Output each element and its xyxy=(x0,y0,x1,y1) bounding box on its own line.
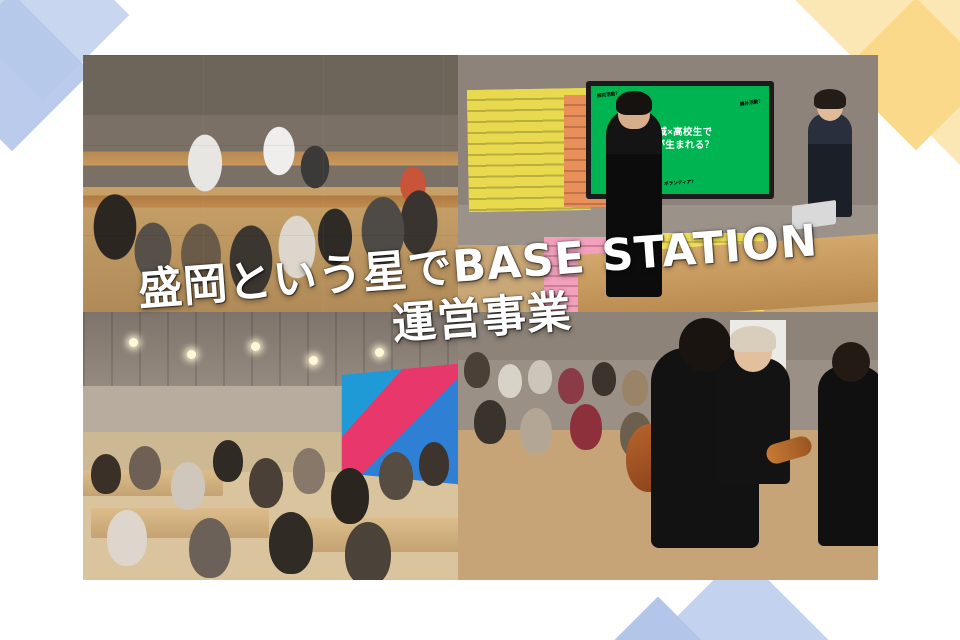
attendee xyxy=(379,452,413,500)
violinist xyxy=(716,358,790,484)
attendee xyxy=(269,512,313,574)
seminar-audience xyxy=(83,402,458,580)
audience-member xyxy=(464,352,490,388)
attendee xyxy=(129,446,161,490)
photo-chamber-concert xyxy=(458,312,878,580)
slide-root: 探究活動？ 課外活動？ 地域×高校生で 何が生まれる？ ボランティア？ xyxy=(0,0,960,640)
audience-member xyxy=(622,370,648,406)
audience-member xyxy=(520,408,552,454)
blue-diamond-front-top-left xyxy=(0,0,91,151)
attendee xyxy=(91,454,121,494)
audience-member xyxy=(570,404,602,450)
attendee xyxy=(419,442,449,486)
ceiling-lamp xyxy=(187,350,196,359)
ceiling-lamp xyxy=(375,348,384,357)
student-speaker-figure xyxy=(606,109,662,297)
foreground-performer xyxy=(818,366,878,546)
audience-member xyxy=(558,368,584,404)
audience-member xyxy=(498,364,522,398)
attendee xyxy=(345,522,391,580)
ceiling-lamp xyxy=(129,338,138,347)
attendee xyxy=(189,518,231,578)
attendee xyxy=(249,458,283,508)
blue-diamond-front-bottom xyxy=(584,596,731,640)
attendee xyxy=(171,462,205,510)
ceiling-lamp xyxy=(309,356,318,365)
photo-green-screen-presentation: 探究活動？ 課外活動？ 地域×高校生で 何が生まれる？ ボランティア？ xyxy=(458,55,878,312)
photo-collage: 探究活動？ 課外活動？ 地域×高校生で 何が生まれる？ ボランティア？ xyxy=(83,55,878,580)
audience-member xyxy=(592,362,616,396)
audience-member xyxy=(528,360,552,394)
audience-member xyxy=(474,400,506,444)
attendee xyxy=(293,448,325,494)
photo-workshop-concrete xyxy=(83,55,458,312)
laptop xyxy=(792,200,836,230)
attendee xyxy=(213,440,243,482)
ceiling-lamp xyxy=(251,342,260,351)
attendee xyxy=(331,468,369,524)
photo-seminar-room xyxy=(83,312,458,580)
attendee xyxy=(107,510,147,566)
screen-corner-label-right: 課外活動？ xyxy=(740,98,764,108)
screen-corner-label-bottom: ボランティア？ xyxy=(664,179,696,187)
